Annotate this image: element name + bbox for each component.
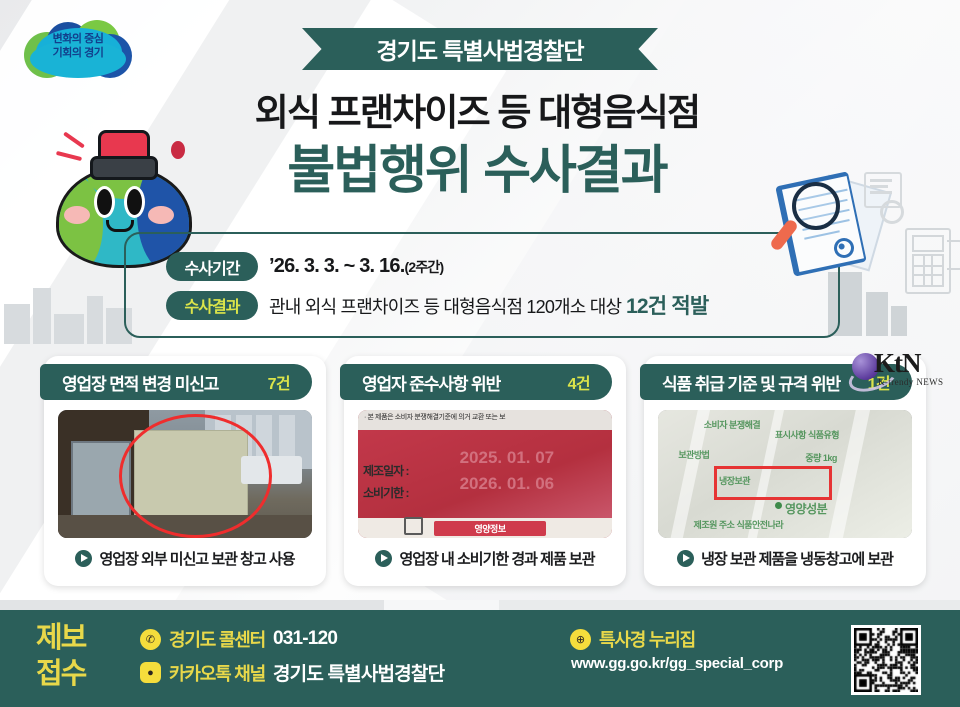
website-label: 특사경 누리집 bbox=[599, 626, 695, 652]
card-caption-text: 영업장 내 소비기한 경과 제품 보관 bbox=[399, 548, 594, 569]
footer-title: 제보 접수 bbox=[36, 620, 85, 692]
card-title: 영업장 면적 변경 미신고 bbox=[62, 370, 268, 395]
card-caption: 냉장 보관 제품을 냉동창고에 보관 bbox=[644, 548, 926, 569]
receipt-machine-icon bbox=[905, 228, 951, 294]
summary-row-result: 수사결과 관내 외식 프랜차이즈 등 대형음식점 120개소 대상 12건 적발 bbox=[166, 290, 708, 320]
card-caption-text: 영업장 외부 미신고 보관 창고 사용 bbox=[99, 548, 294, 569]
result-highlight: 12건 적발 bbox=[626, 295, 708, 318]
kakao-label: 카카오톡 채널 bbox=[169, 660, 265, 686]
play-icon bbox=[677, 550, 694, 567]
card-caption: 영업장 내 소비기한 경과 제품 보관 bbox=[344, 548, 626, 569]
card-photo: 소비자 분쟁해결 표시사항 식품유형 보관방법 중량 1kg 냉장보관 영양성분… bbox=[658, 410, 912, 538]
card-title: 식품 취급 기준 및 규격 위반 bbox=[662, 370, 868, 395]
gyeonggi-logo: 변화의 중심 기회의 경기 bbox=[22, 18, 134, 82]
footer-contact-phone[interactable]: ✆ 경기도 콜센터 031-120 bbox=[140, 626, 444, 652]
ribbon-banner: 경기도 특별사법경찰단 bbox=[302, 28, 658, 70]
label-value-expiry: 2026. 01. 06 bbox=[460, 474, 555, 494]
kakaotalk-icon: ● bbox=[140, 662, 161, 683]
red-rectangle-annotation bbox=[714, 466, 832, 500]
mini-magnifier-icon bbox=[880, 200, 904, 224]
card-count-badge: 7건 bbox=[268, 370, 290, 394]
siren-base bbox=[90, 156, 158, 180]
ktn-tagline: K-trendy NEWS bbox=[878, 377, 943, 387]
qr-code[interactable] bbox=[851, 625, 921, 695]
nutrition-badge: 영양정보 bbox=[434, 521, 546, 536]
logo-line-1: 변화의 중심 bbox=[22, 32, 134, 46]
ribbon-label: 경기도 특별사법경찰단 bbox=[302, 28, 658, 70]
summary-row-period: 수사기간 ’26. 3. 3. ~ 3. 16.(2주간) bbox=[166, 252, 443, 281]
card-caption: 영업장 외부 미신고 보관 창고 사용 bbox=[44, 548, 326, 569]
card-photo: · 본 제품은 소비자 분쟁해결기준에 의거 교환 또는 보 제조일자 : 소비… bbox=[358, 410, 612, 538]
summary-box bbox=[124, 232, 840, 338]
recycle-icon bbox=[404, 517, 423, 535]
label-field-manufacture: 제조일자 : bbox=[363, 462, 409, 479]
ktn-watermark-logo: KtN K-trendy NEWS bbox=[852, 350, 956, 392]
label-field-expiry: 소비기한 : bbox=[363, 484, 409, 501]
summary-period-value: ’26. 3. 3. ~ 3. 16.(2주간) bbox=[269, 255, 443, 278]
period-sub: (2주간) bbox=[404, 259, 443, 275]
violation-card[interactable]: 영업자 준수사항 위반 4건 · 본 제품은 소비자 분쟁해결기준에 의거 교환… bbox=[344, 356, 626, 586]
card-count-badge: 4건 bbox=[568, 370, 590, 394]
card-header: 영업자 준수사항 위반 4건 bbox=[340, 364, 612, 400]
mascot-eye bbox=[124, 186, 145, 218]
period-main: ’26. 3. 3. ~ 3. 16. bbox=[269, 255, 404, 277]
summary-pill-result: 수사결과 bbox=[166, 291, 258, 320]
phone-icon: ✆ bbox=[140, 629, 161, 650]
bag-label-nutrition: 영양성분 bbox=[785, 500, 827, 517]
card-photo bbox=[58, 410, 312, 538]
card-header: 영업장 면적 변경 미신고 7건 bbox=[40, 364, 312, 400]
card-title: 영업자 준수사항 위반 bbox=[362, 370, 568, 395]
violation-card[interactable]: 영업장 면적 변경 미신고 7건 영업장 외부 미신고 보관 창고 사용 bbox=[44, 356, 326, 586]
logo-line-2: 기회의 경기 bbox=[22, 46, 134, 60]
footer-title-line-2: 접수 bbox=[36, 656, 85, 692]
poster-root: 변화의 중심 기회의 경기 경기도 특별사법경찰단 외식 프랜차이즈 등 대형음… bbox=[0, 0, 960, 707]
label-value-manufacture: 2025. 01. 07 bbox=[460, 448, 555, 468]
document-magnifier-illustration bbox=[770, 176, 900, 298]
ktn-brand: KtN bbox=[874, 348, 921, 379]
footer-website[interactable]: ⊕ 특사경 누리집 www.gg.go.kr/gg_special_corp bbox=[570, 626, 783, 672]
website-url: www.gg.go.kr/gg_special_corp bbox=[571, 655, 783, 672]
label-notice-text: · 본 제품은 소비자 분쟁해결기준에 의거 교환 또는 보 bbox=[364, 412, 505, 422]
play-icon bbox=[75, 550, 92, 567]
result-main: 관내 외식 프랜차이즈 등 대형음식점 120개소 대상 bbox=[269, 297, 621, 317]
footer-title-line-1: 제보 bbox=[36, 620, 85, 656]
phone-number: 031-120 bbox=[273, 628, 337, 650]
mascot-eye bbox=[94, 186, 115, 218]
summary-pill-period: 수사기간 bbox=[166, 252, 258, 281]
footer-contact-kakao[interactable]: ● 카카오톡 채널 경기도 특별사법경찰단 bbox=[140, 659, 444, 686]
globe-icon: ⊕ bbox=[570, 629, 591, 650]
summary-result-value: 관내 외식 프랜차이즈 등 대형음식점 120개소 대상 12건 적발 bbox=[269, 290, 708, 320]
red-circle-annotation bbox=[119, 414, 272, 538]
magnifier-icon bbox=[792, 182, 840, 230]
play-icon bbox=[375, 550, 392, 567]
phone-label: 경기도 콜센터 bbox=[169, 626, 265, 652]
kakao-channel: 경기도 특별사법경찰단 bbox=[273, 659, 444, 686]
footer-contacts: ✆ 경기도 콜센터 031-120 ● 카카오톡 채널 경기도 특별사법경찰단 bbox=[140, 626, 444, 693]
card-caption-text: 냉장 보관 제품을 냉동창고에 보관 bbox=[701, 548, 893, 569]
